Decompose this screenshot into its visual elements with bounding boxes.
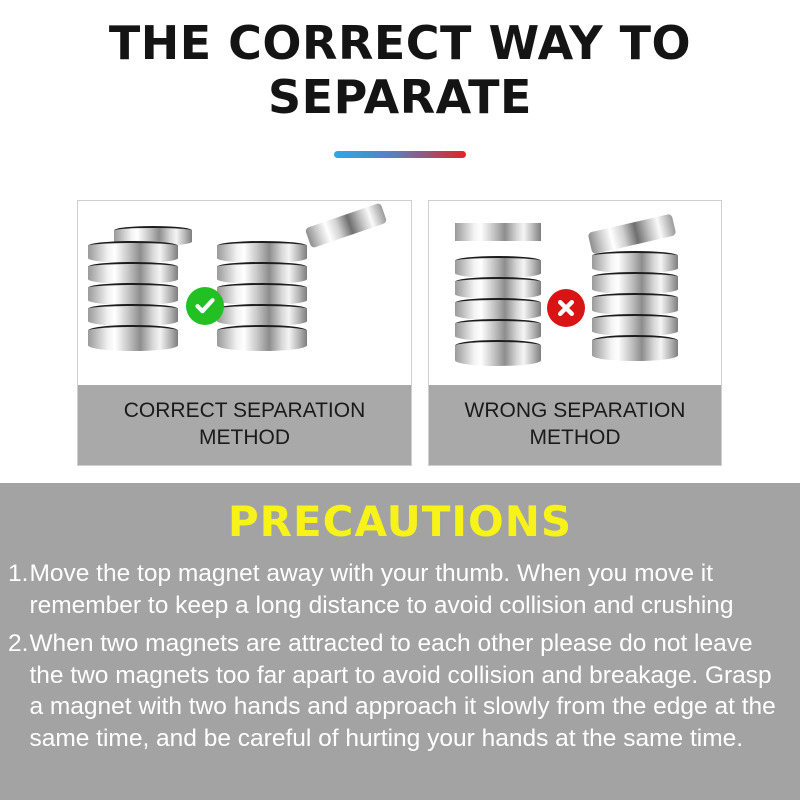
magnet-disc [88,325,178,351]
magnet-disc [217,325,307,351]
panel-correct-separation: CORRECT SEPARATION METHOD [77,200,412,466]
magnet-disc [592,335,678,361]
magnet-disc-sliding [305,203,387,249]
gradient-divider [334,151,466,158]
panel-wrong-separation: WRONG SEPARATION METHOD [428,200,722,466]
magnet-disc [88,283,178,305]
magnet-disc [217,262,307,284]
magnet-disc-lifted [455,223,541,241]
list-item-number: 2. [8,628,29,660]
header: THE CORRECT WAY TO SEPARATE [0,0,800,158]
magnet-disc [455,319,541,341]
magnet-disc [592,314,678,336]
magnet-disc [455,256,541,278]
magnet-disc [455,340,541,366]
list-item: 2. When two magnets are attracted to eac… [8,628,792,755]
x-circle-icon [547,289,585,327]
check-circle-icon [186,287,224,325]
magnet-disc [217,304,307,326]
magnet-disc [592,251,678,273]
magnet-disc [217,283,307,305]
precautions-section: PRECAUTIONS 1. Move the top magnet away … [0,483,800,800]
list-item-text: Move the top magnet away with your thumb… [29,558,792,622]
magnet-disc [88,241,178,263]
list-item-number: 1. [8,558,29,590]
magnet-disc [455,298,541,320]
panel-wrong-caption: WRONG SEPARATION METHOD [429,385,721,465]
magnet-disc-tilted [588,214,677,255]
precautions-list: 1. Move the top magnet away with your th… [0,558,800,755]
list-item: 1. Move the top magnet away with your th… [8,558,792,622]
panel-correct-illustration [78,201,411,387]
magnet-disc [455,277,541,299]
panel-correct-caption: CORRECT SEPARATION METHOD [78,385,411,465]
magnet-disc [88,262,178,284]
magnet-disc [217,241,307,263]
magnet-disc [592,272,678,294]
magnet-disc [592,293,678,315]
list-item-text: When two magnets are attracted to each o… [29,628,792,755]
page-title: THE CORRECT WAY TO SEPARATE [80,16,720,125]
divider-wrapper [0,151,800,158]
precautions-title: PRECAUTIONS [0,483,800,546]
magnet-disc [88,304,178,326]
panel-wrong-illustration [429,201,721,387]
comparison-panels: CORRECT SEPARATION METHOD [0,200,800,468]
